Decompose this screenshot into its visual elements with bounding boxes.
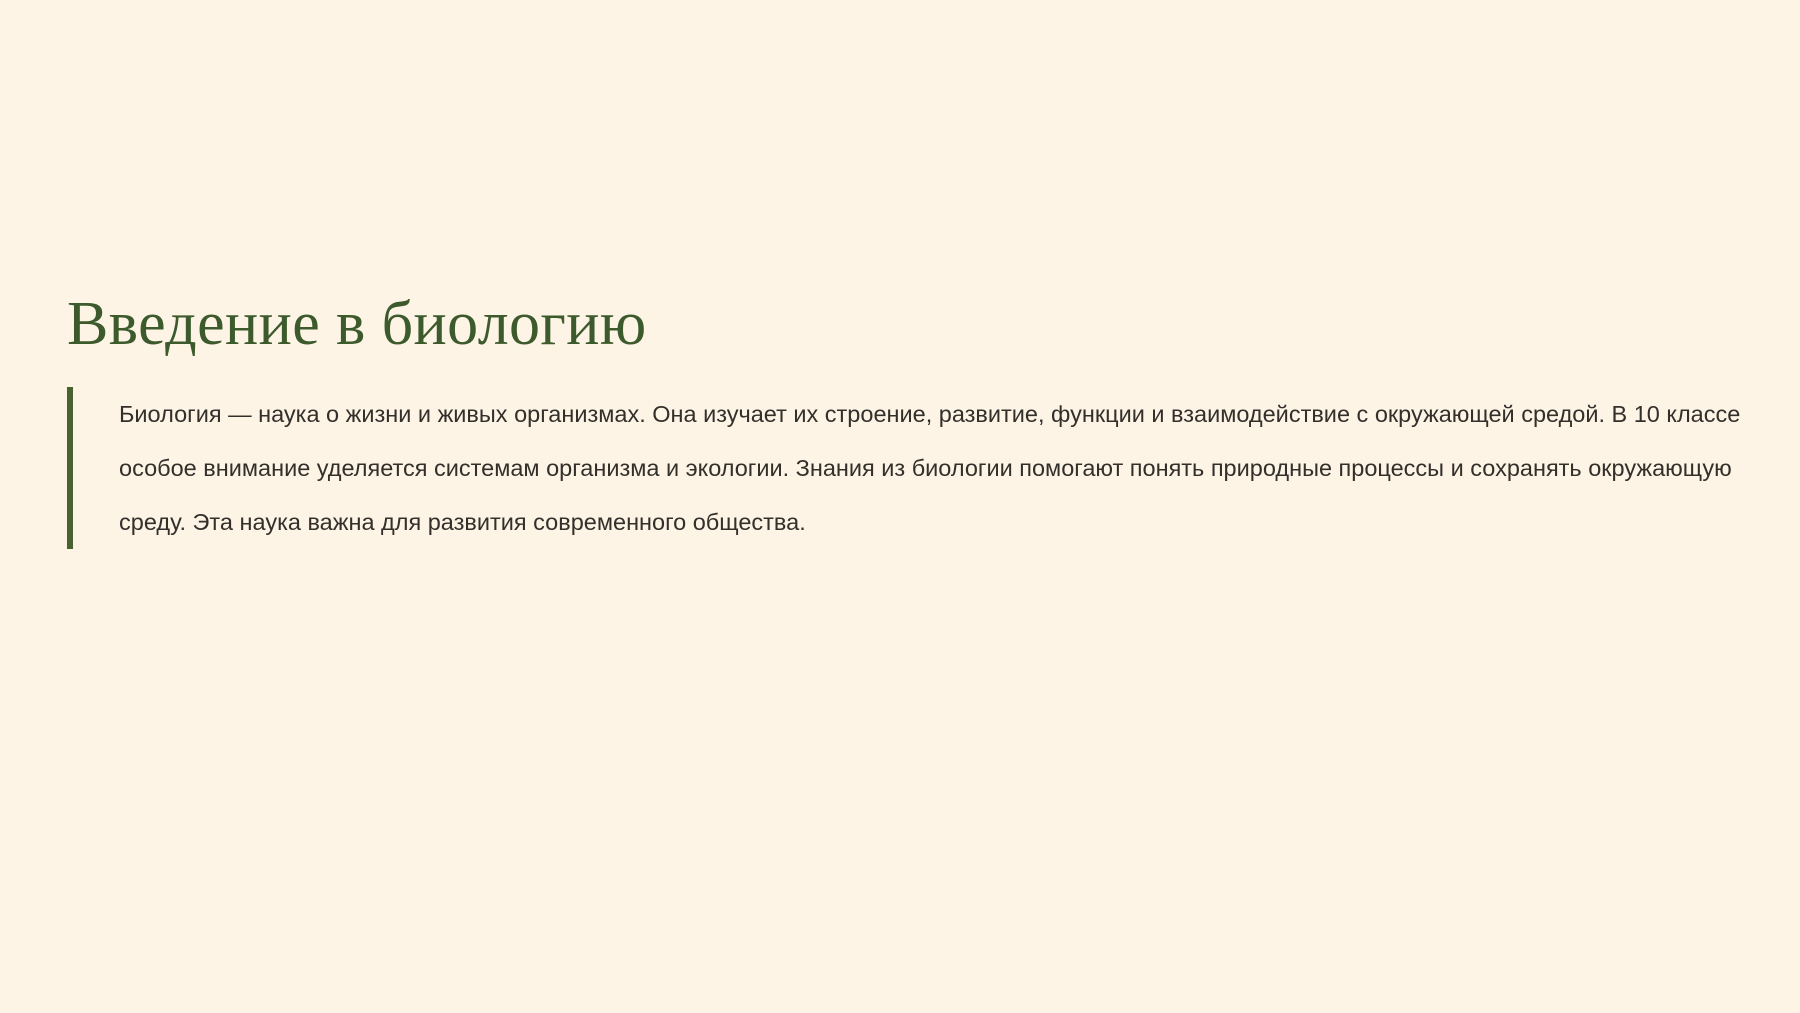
page-title: Введение в биологию (67, 290, 1767, 359)
body-paragraph: Биология — наука о жизни и живых организ… (119, 387, 1754, 549)
slide-canvas: Введение в биологию Биология — наука о ж… (0, 0, 1800, 1013)
body-callout-block: Биология — наука о жизни и живых организ… (67, 387, 1767, 549)
slide-content: Введение в биологию Биология — наука о ж… (67, 290, 1767, 549)
